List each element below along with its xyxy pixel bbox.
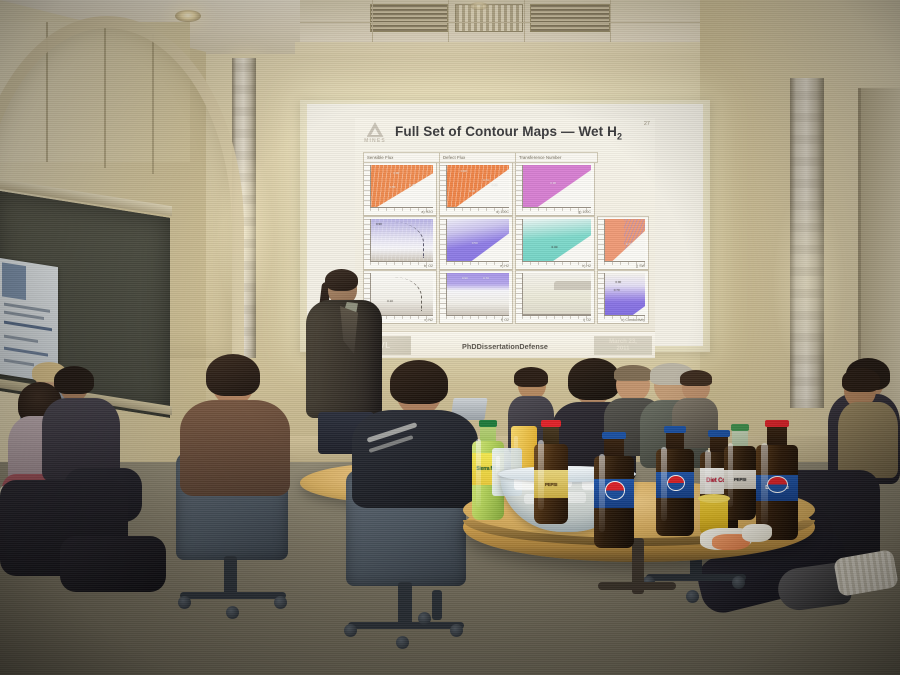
eyeglasses-icon [336, 284, 356, 290]
pepsi-globe-icon [605, 481, 625, 500]
contour-plot: 0.90 g) 100C [515, 162, 595, 216]
plot-label: j) SW [636, 264, 645, 268]
slide-page-number: 27 [644, 121, 650, 127]
pepsi-bottle-2[interactable]: PEPSI [656, 430, 694, 536]
slide-content: MINES Full Set of Contour Maps — Wet H2 … [355, 118, 655, 358]
plot-label: b) O2 [424, 264, 433, 268]
contour-plot: 0.90 0.70 0.50 0.30 d) 100C [439, 162, 513, 216]
plot-label: c) N2 [424, 318, 433, 322]
plot-label: i) O2 [583, 318, 591, 322]
ceiling-vent-icon [370, 4, 448, 32]
audience-brown-sweater [180, 362, 292, 490]
contour-plot: 0.30 h) H2 [515, 216, 595, 270]
napkin-pile[interactable] [742, 524, 772, 542]
ceiling-tile-line [372, 0, 373, 42]
mines-logo-word: MINES [364, 138, 386, 144]
presentation-room-photo: MINES Full Set of Contour Maps — Wet H2 … [0, 0, 900, 675]
slide-header: MINES Full Set of Contour Maps — Wet H2 … [355, 118, 655, 152]
footer-date-line2: 2011 [616, 346, 629, 352]
room: MINES Full Set of Contour Maps — Wet H2 … [0, 0, 900, 675]
plot-label: k) Conductivity [621, 318, 645, 322]
contour-plot: 0.90 0.70 f) O2 [439, 270, 513, 324]
audience-striped-sleeve [352, 368, 480, 504]
plot-label: a) H2O [421, 210, 433, 214]
ceiling-tile-line [610, 0, 611, 42]
contour-plot: 0.70 j) SW [597, 216, 649, 270]
contour-plot: 0.90 b) O2 [363, 216, 437, 270]
diet-coke-bottle-2[interactable]: Diet Coke [756, 424, 798, 540]
ceiling-vent-icon [455, 4, 523, 32]
table-foot [598, 582, 676, 590]
concrete-pillar [790, 78, 824, 408]
audience-left-foreground [0, 480, 150, 670]
recessed-downlight-icon [470, 2, 488, 10]
plot-label: d) 100C [496, 210, 509, 214]
mines-triangle-icon [367, 122, 384, 137]
plot-label: g) 100C [578, 210, 591, 214]
contour-plot: 0.50 e) H2 [439, 216, 513, 270]
slide-title: Full Set of Contour Maps — Wet H2 [395, 124, 622, 142]
slide-footer: VL PhDDissertationDefense March 23, 2011 [355, 331, 655, 358]
recessed-downlight-icon [175, 10, 201, 22]
plot-label: e) H2 [500, 264, 509, 268]
plot-label: f) O2 [501, 318, 509, 322]
audience-right-tan-jacket [838, 372, 900, 472]
contour-map-grid: Sensible Flux Defect Flux Transference N… [363, 152, 647, 328]
pepsi-bottle-4[interactable]: PEPSI [724, 428, 756, 520]
pepsi-bottle-1[interactable]: PEPSI [594, 436, 634, 548]
ceiling-tile-line [448, 0, 449, 42]
ceiling-tile-line [300, 22, 720, 23]
yellow-cup-rim [698, 494, 730, 503]
footer-date: March 23, 2011 [594, 336, 652, 355]
mines-logo: MINES [361, 122, 389, 148]
ceiling-vent-icon [530, 4, 610, 32]
contour-plot: 0.90 0.70 k) Conductivity [597, 270, 649, 324]
pepsi-bottle-3[interactable]: PEPSI [534, 424, 568, 524]
contour-plot: 0.90 0.50 0.30 a) H2O [363, 162, 437, 216]
contour-plot: i) O2 [515, 270, 595, 324]
plot-label: h) H2 [582, 264, 591, 268]
ceiling-tile-line [524, 0, 525, 42]
